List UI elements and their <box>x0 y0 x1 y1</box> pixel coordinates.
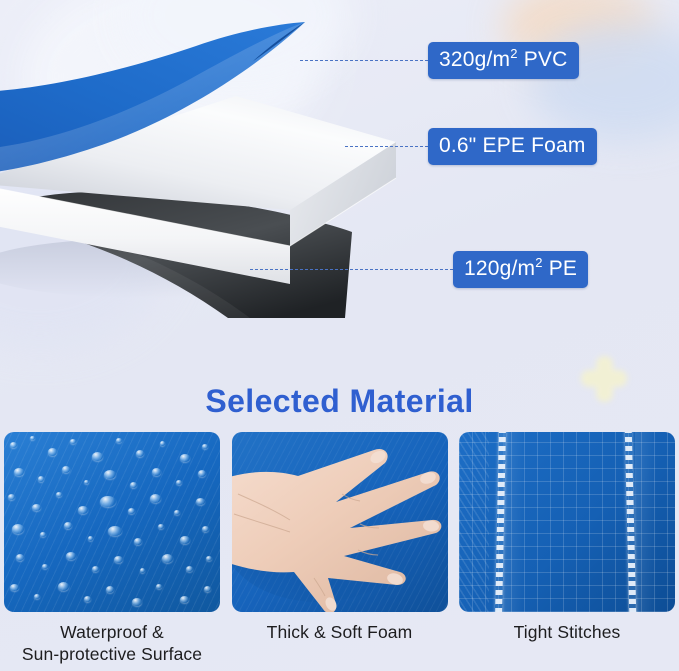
seam-band-left <box>503 432 525 612</box>
leader-line-pvc <box>300 60 428 61</box>
seam-band-right <box>635 432 657 612</box>
badge-pvc-sup: 2 <box>510 46 517 61</box>
hand-illustration <box>232 432 448 612</box>
caption-stitches-line1: Tight Stitches <box>514 621 621 643</box>
badge-pvc[interactable]: 320g/m2 PVC <box>428 42 579 79</box>
fabric-weave-edge <box>459 432 489 612</box>
callout-pe: 120g/m2 PE <box>250 251 588 288</box>
badge-foam-text: 0.6" EPE Foam <box>439 134 586 157</box>
caption-foam: Thick & Soft Foam <box>267 621 413 643</box>
background-blob-sky-right <box>529 22 679 142</box>
caption-stitches: Tight Stitches <box>514 621 621 643</box>
callout-foam: 0.6" EPE Foam <box>345 128 597 165</box>
feature-stitches: Tight Stitches <box>459 432 675 666</box>
section-title: Selected Material <box>0 383 679 420</box>
callout-pvc: 320g/m2 PVC <box>300 42 579 79</box>
caption-waterproof-line1: Waterproof & <box>22 621 202 643</box>
feature-panels: Waterproof & Sun-protective Surface <box>4 432 675 666</box>
photo-tight-stitches <box>459 432 675 612</box>
badge-pe-tail: PE <box>543 257 577 280</box>
caption-waterproof: Waterproof & Sun-protective Surface <box>22 621 202 666</box>
leader-line-foam <box>345 146 428 147</box>
water-droplets <box>4 432 220 612</box>
feature-waterproof: Waterproof & Sun-protective Surface <box>4 432 220 666</box>
leader-line-pe <box>250 269 453 270</box>
badge-pe-text: 120g/m <box>464 257 535 280</box>
badge-pvc-tail: PVC <box>518 48 568 71</box>
feature-foam: Thick & Soft Foam <box>232 432 448 666</box>
infographic-page: 320g/m2 PVC 0.6" EPE Foam 120g/m2 PE Sel… <box>0 0 679 671</box>
badge-pe-sup: 2 <box>535 255 542 270</box>
photo-hand-on-foam <box>232 432 448 612</box>
caption-foam-line1: Thick & Soft Foam <box>267 621 413 643</box>
caption-waterproof-line2: Sun-protective Surface <box>22 643 202 665</box>
badge-foam[interactable]: 0.6" EPE Foam <box>428 128 597 165</box>
badge-pvc-text: 320g/m <box>439 48 510 71</box>
photo-waterproof-surface <box>4 432 220 612</box>
badge-pe[interactable]: 120g/m2 PE <box>453 251 588 288</box>
